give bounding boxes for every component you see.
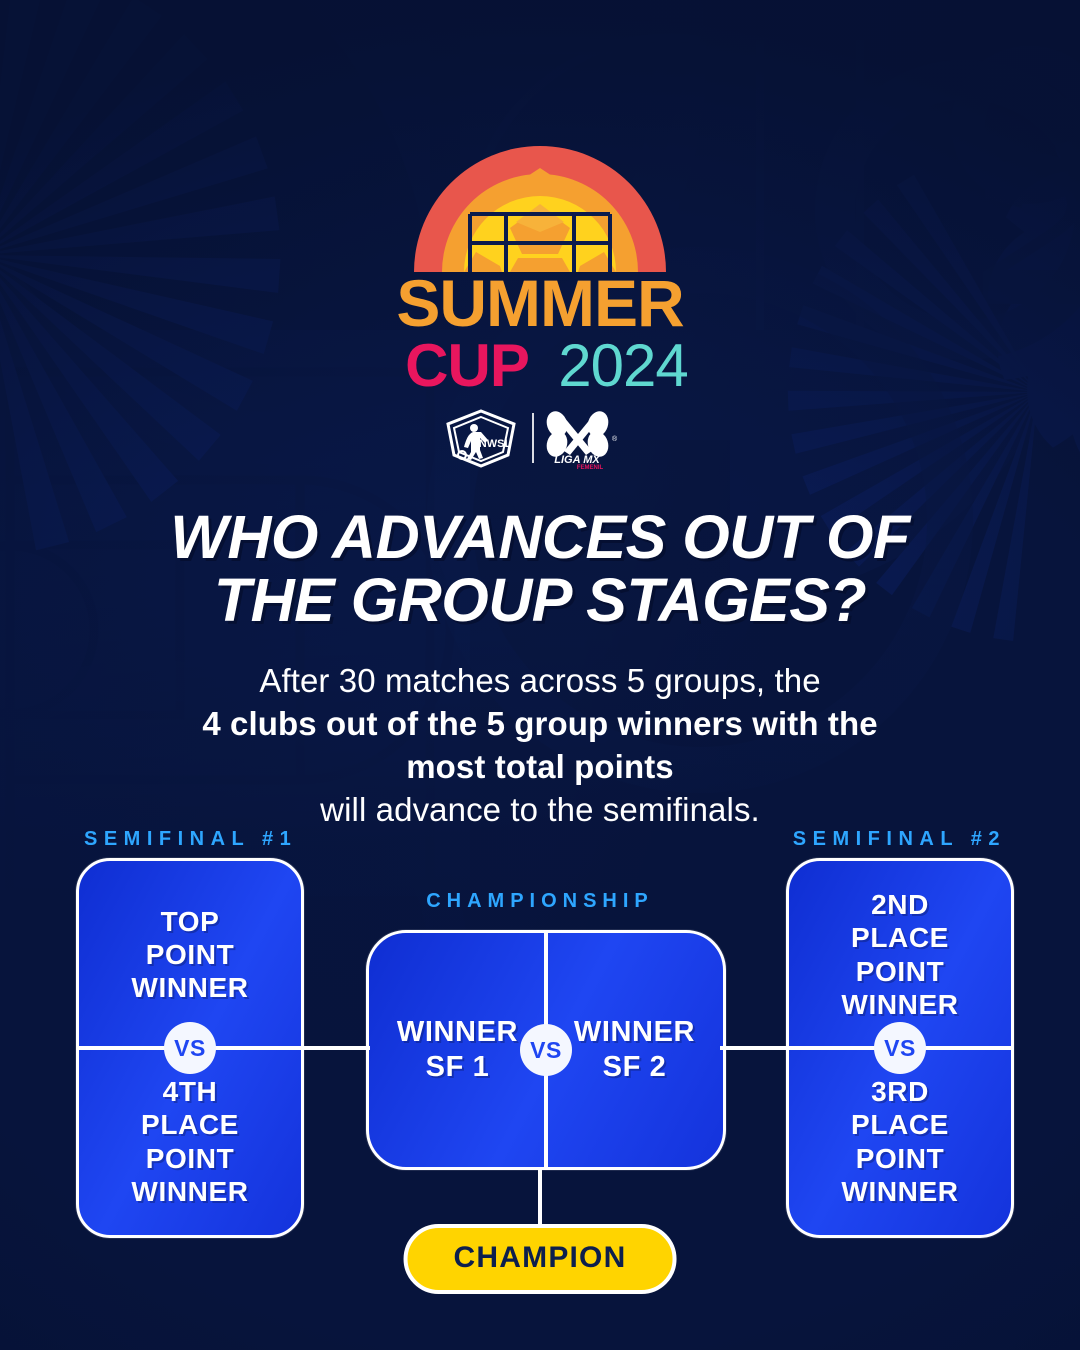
connector-sf2-to-final (720, 1046, 790, 1050)
partner-logos: NWSL LIGA MX FEMENIL ® (0, 407, 1080, 474)
semifinal-2-label: SEMIFINAL #2 (793, 828, 1006, 851)
registered-mark-icon: ® (612, 435, 618, 443)
final-vs-badge: VS (520, 1024, 572, 1076)
sf1-bottom-slot: 4THPLACEPOINTWINNER (79, 1048, 301, 1235)
headline-line-2: THE GROUP STAGES? (0, 569, 1080, 632)
headline-line-1: WHO ADVANCES OUT OF (0, 506, 1080, 569)
blurb-line-2-bold: 4 clubs out of the 5 group winners with … (202, 705, 877, 742)
femenil-wordmark: FEMENIL (577, 465, 604, 469)
logo-word-summer: SUMMER (396, 274, 684, 340)
liga-mx-femenil-logo: LIGA MX FEMENIL ® (543, 409, 618, 469)
logo-word-year: 2024 (558, 332, 687, 392)
partner-divider (532, 413, 534, 463)
final-right-slot: WINNERSF 2 (546, 933, 723, 1167)
connector-final-to-champion (538, 1168, 542, 1230)
nwsl-wordmark: NWSL (479, 438, 512, 450)
logo-word-cup: CUP (405, 332, 529, 392)
explainer-text: After 30 matches across 5 groups, the 4 … (0, 660, 1080, 832)
sf2-bottom-slot: 3RDPLACEPOINTWINNER (789, 1048, 1011, 1235)
semifinal-2-card[interactable]: 2NDPLACEPOINTWINNER 3RDPLACEPOINTWINNER … (786, 858, 1014, 1238)
nwsl-logo: NWSL (448, 411, 514, 466)
blurb-line-1: After 30 matches across 5 groups, the (0, 660, 1080, 703)
summer-cup-logo: SUMMER CUP 2024 NWSL (0, 140, 1080, 474)
logo-wordmark: SUMMER CUP 2024 (0, 274, 1080, 397)
champion-badge[interactable]: CHAMPION (404, 1224, 677, 1294)
sf1-top-slot: TOPPOINTWINNER (79, 861, 301, 1048)
semifinal-1-label: SEMIFINAL #1 (84, 828, 297, 851)
connector-sf1-to-final (300, 1046, 370, 1050)
tournament-bracket: SEMIFINAL #1 SEMIFINAL #2 CHAMPIONSHIP T… (0, 820, 1080, 1290)
blurb-line-3-bold: most total points (406, 748, 674, 785)
sf1-vs-badge: VS (164, 1022, 216, 1074)
sf2-top-slot: 2NDPLACEPOINTWINNER (789, 861, 1011, 1048)
blurb-line-2: 4 clubs out of the 5 group winners with … (0, 703, 1080, 746)
page-title: WHO ADVANCES OUT OF THE GROUP STAGES? (0, 506, 1080, 632)
championship-card[interactable]: WINNERSF 1 WINNERSF 2 VS (366, 930, 726, 1170)
summer-cup-arch-ball-logo (414, 140, 666, 272)
sf2-vs-badge: VS (874, 1022, 926, 1074)
blurb-line-3: most total points will advance to the se… (0, 746, 1080, 832)
semifinal-1-card[interactable]: TOPPOINTWINNER 4THPLACEPOINTWINNER VS (76, 858, 304, 1238)
